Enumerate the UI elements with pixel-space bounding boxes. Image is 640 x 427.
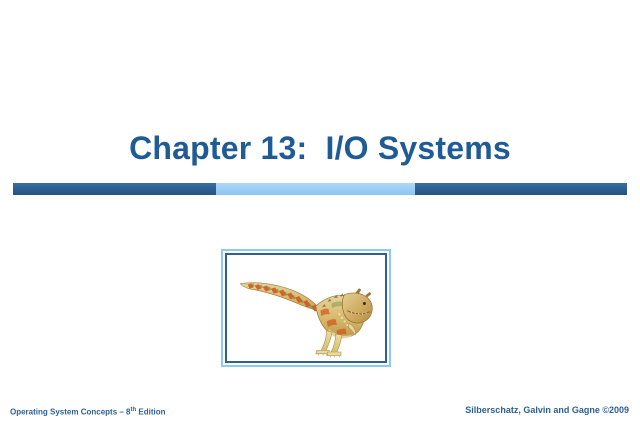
picture-frame (221, 249, 391, 367)
footer-right: Silberschatz, Galvin and Gagne ©2009 (465, 405, 629, 415)
dinosaur-illustration-icon (227, 255, 385, 361)
footer-left: Operating System Concepts – 8th Edition (10, 407, 165, 417)
divider-segment-dark-right (415, 183, 627, 195)
divider-segment-light (216, 183, 415, 195)
divider-segment-dark-left (13, 183, 216, 195)
footer-left-main: Operating System Concepts – 8 (10, 408, 130, 417)
footer-left-tail: Edition (136, 408, 165, 417)
divider-bar (13, 183, 627, 195)
page-title: Chapter 13: I/O Systems (0, 128, 640, 168)
picture-frame-inner (225, 253, 387, 363)
presentation-slide: Chapter 13: I/O Systems (0, 0, 640, 427)
